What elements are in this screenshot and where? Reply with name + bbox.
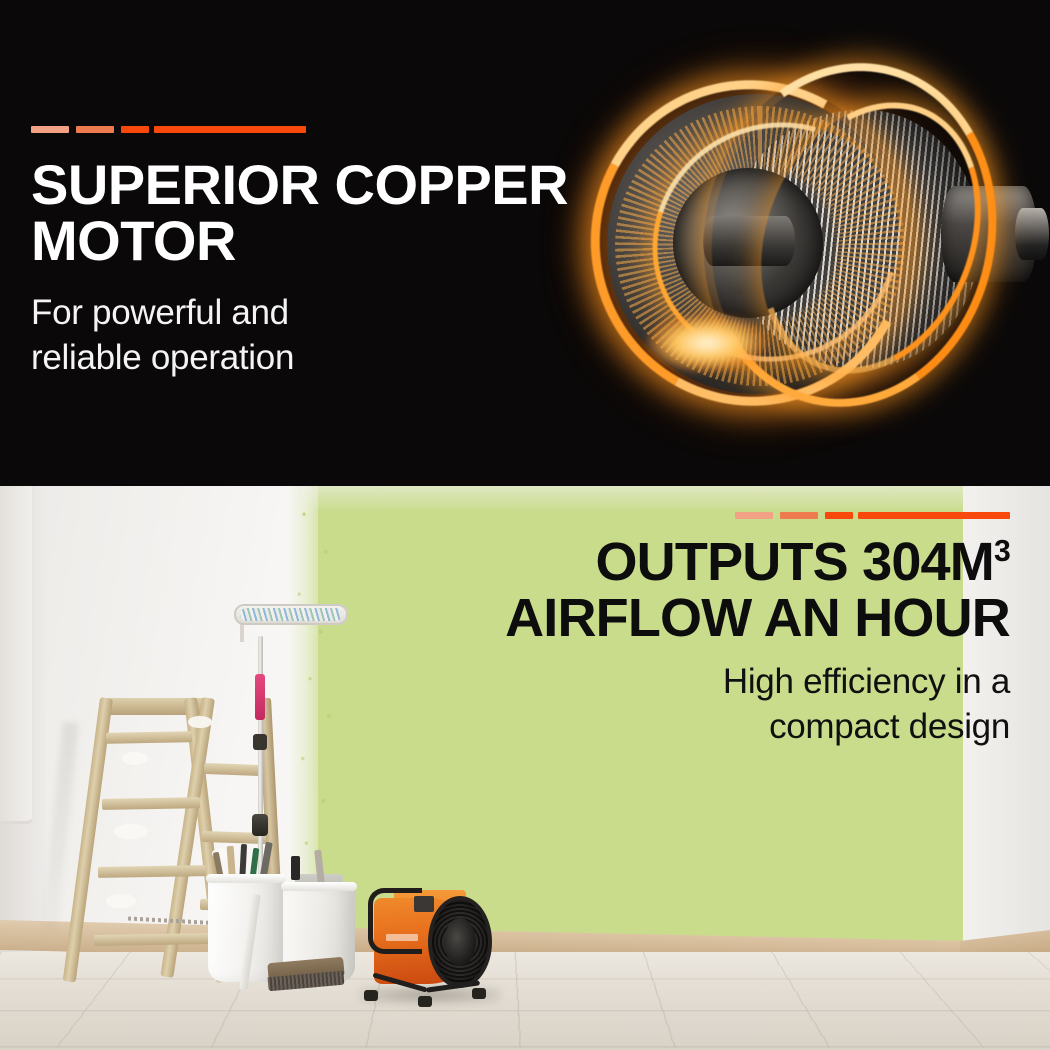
bottom-panel-subtitle-line-1: High efficiency in a (723, 662, 1010, 701)
top-panel-headline-line-2: MOTOR (31, 209, 236, 272)
bottom-panel-text-block: OUTPUTS 304M3 AIRFLOW AN HOUR High effic… (410, 512, 1010, 750)
window-recess (0, 486, 34, 824)
accent-dash-bar-top (31, 126, 591, 133)
top-panel-subtitle-line-1: For powerful and (31, 293, 289, 332)
heater-carry-handle (368, 888, 422, 954)
top-panel-subtitle: For powerful andreliable operation (31, 291, 591, 381)
copper-motor-illustration (555, 28, 1050, 458)
roller-pole-clamp-lower (252, 814, 268, 836)
panel-airflow-output: OUTPUTS 304M3 AIRFLOW AN HOUR High effic… (0, 486, 1050, 1050)
ladder-rung-back-1 (204, 763, 262, 776)
heater-foot-right (472, 988, 486, 999)
bottom-panel-subtitle: High efficiency in acompact design (410, 660, 1010, 750)
ladder-paint-splatter (114, 824, 148, 839)
ladder-paint-splatter (188, 716, 212, 728)
heater-fan-grille (432, 900, 488, 984)
accent-segment-1 (735, 512, 773, 519)
fan-heater-product (362, 884, 490, 1006)
top-panel-subtitle-line-2: reliable operation (31, 338, 294, 377)
product-feature-banner: SUPERIOR COPPERMOTOR For powerful andrel… (0, 0, 1050, 1050)
top-panel-text-block: SUPERIOR COPPERMOTOR For powerful andrel… (31, 126, 591, 381)
heater-foot-left (364, 990, 378, 1001)
glow-hotspot (647, 314, 767, 372)
panel-superior-copper-motor: SUPERIOR COPPERMOTOR For powerful andrel… (0, 0, 1050, 486)
accent-segment-2 (780, 512, 818, 519)
accent-segment-2 (76, 126, 114, 133)
heater-foot-mid (418, 996, 432, 1007)
ladder-step-3 (98, 865, 206, 878)
roller-pole-grip (255, 674, 265, 720)
ladder-paint-splatter (122, 752, 148, 765)
top-panel-headline: SUPERIOR COPPERMOTOR (31, 157, 591, 269)
cubic-superscript: 3 (994, 535, 1010, 568)
roller-pole-clamp-upper (253, 734, 267, 750)
accent-dash-bar-bottom (410, 512, 1010, 519)
bucket-rim-right (281, 882, 357, 891)
accent-segment-3 (825, 512, 853, 519)
bottom-panel-subtitle-line-2: compact design (769, 707, 1010, 746)
ladder-step-4 (94, 933, 212, 946)
ladder-step-1 (106, 731, 192, 743)
top-panel-headline-line-1: SUPERIOR COPPER (31, 153, 568, 216)
accent-segment-1 (31, 126, 69, 133)
accent-segment-4 (154, 126, 306, 133)
scraper-blade (291, 856, 300, 880)
paint-roller-nap (240, 608, 342, 621)
headline-line-2: AIRFLOW AN HOUR (505, 588, 1010, 648)
accent-segment-3 (121, 126, 149, 133)
accent-segment-4 (858, 512, 1010, 519)
green-paint-top-edge (300, 486, 963, 512)
bucket-rim-left (206, 874, 286, 883)
ladder-step-2 (102, 797, 200, 810)
ladder-paint-splatter (106, 894, 136, 908)
headline-line-1: OUTPUTS 304M3 (595, 532, 1010, 592)
bottom-panel-headline: OUTPUTS 304M3 AIRFLOW AN HOUR (410, 535, 1010, 646)
